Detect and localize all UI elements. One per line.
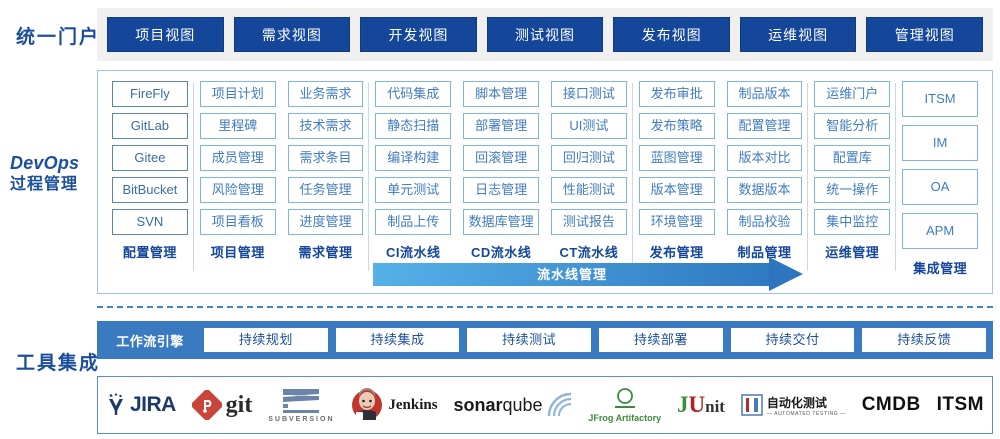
junit-text-j: J xyxy=(677,392,689,417)
portal-button-project[interactable]: 项目视图 xyxy=(107,17,224,52)
portal-button-requirement[interactable]: 需求视图 xyxy=(234,17,351,52)
portal-button-testing[interactable]: 测试视图 xyxy=(487,17,604,52)
tool-logo-panel: JIRA git SUBVERSION Jen xyxy=(97,376,993,434)
cell-release-strategy[interactable]: 发布策略 xyxy=(639,113,715,139)
jira-logo-text: JIRA xyxy=(130,393,176,417)
cell-regression-test[interactable]: 回归测试 xyxy=(551,145,627,171)
sonarqube-logo: sonarqube xyxy=(453,383,572,427)
cell-gitlab[interactable]: GitLab xyxy=(112,113,188,139)
jira-logo: JIRA xyxy=(106,383,176,427)
workflow-stage-testing[interactable]: 持续测试 xyxy=(467,328,591,352)
pipeline-arrow-label: 流水线管理 xyxy=(373,263,771,286)
git-logo: git xyxy=(192,383,253,427)
sonarqube-waves-icon xyxy=(547,392,573,418)
cell-technical-requirement[interactable]: 技术需求 xyxy=(288,113,364,139)
devops-column-operations: 运维门户 智能分析 配置库 统一操作 集中监控 运维管理 xyxy=(808,81,896,277)
subversion-mark-icon xyxy=(281,387,321,415)
cell-project-plan[interactable]: 项目计划 xyxy=(200,81,276,107)
workflow-stage-deployment[interactable]: 持续部署 xyxy=(599,328,723,352)
cmdb-logo-text: CMDB xyxy=(862,394,921,416)
jfrog-artifactory-logo: JFrog Artifactory xyxy=(588,383,661,427)
cell-compile-build[interactable]: 编译构建 xyxy=(375,145,451,171)
cell-test-report[interactable]: 测试报告 xyxy=(551,209,627,235)
sonarqube-text-light: qube xyxy=(503,395,543,415)
devops-column-ci: 代码集成 静态扫描 编译构建 单元测试 制品上传 CI流水线 xyxy=(369,81,457,277)
cell-business-requirement[interactable]: 业务需求 xyxy=(288,81,364,107)
devops-column-cd: 脚本管理 部署管理 回滚管理 日志管理 数据库管理 CD流水线 xyxy=(457,81,545,277)
cell-intelligent-analysis[interactable]: 智能分析 xyxy=(814,113,890,139)
jenkins-mark-icon xyxy=(350,388,384,422)
row-label-tools: 工具集成 xyxy=(16,352,100,376)
cell-blueprint-management[interactable]: 蓝图管理 xyxy=(639,145,715,171)
devops-column-project: 项目计划 里程碑 成员管理 风险管理 项目看板 项目管理 xyxy=(194,81,282,277)
cell-version-management[interactable]: 版本管理 xyxy=(639,177,715,203)
portal-button-release[interactable]: 发布视图 xyxy=(613,17,730,52)
workflow-stage-delivery[interactable]: 持续交付 xyxy=(731,328,855,352)
cell-apm[interactable]: APM xyxy=(902,213,978,249)
jira-mark-icon xyxy=(106,393,126,417)
section-divider xyxy=(97,306,993,308)
cell-release-approval[interactable]: 发布审批 xyxy=(639,81,715,107)
cell-itsm[interactable]: ITSM xyxy=(902,81,978,117)
jfrog-logo-text: JFrog Artifactory xyxy=(588,413,661,423)
cell-rollback-management[interactable]: 回滚管理 xyxy=(463,145,539,171)
subversion-logo: SUBVERSION xyxy=(268,383,334,427)
automated-testing-text-en: — AUTOMATED TESTING — xyxy=(767,411,846,417)
column-title-operations: 运维管理 xyxy=(814,242,890,261)
git-logo-text: git xyxy=(226,392,253,419)
cell-ui-test[interactable]: UI测试 xyxy=(551,113,627,139)
cell-config-repository[interactable]: 配置库 xyxy=(814,145,890,171)
pipeline-arrow: 流水线管理 xyxy=(373,263,823,286)
column-title-scm: 配置管理 xyxy=(112,242,188,261)
cell-unified-operation[interactable]: 统一操作 xyxy=(814,177,890,203)
cell-im[interactable]: IM xyxy=(902,125,978,161)
workflow-engine-bar: 工作流引擎 持续规划 持续集成 持续测试 持续部署 持续交付 持续反馈 xyxy=(97,321,993,359)
jenkins-logo: Jenkins xyxy=(350,383,437,427)
cell-artifact-version[interactable]: 制品版本 xyxy=(727,81,803,107)
cell-static-scan[interactable]: 静态扫描 xyxy=(375,113,451,139)
cell-risk-management[interactable]: 风险管理 xyxy=(200,177,276,203)
cell-oa[interactable]: OA xyxy=(902,169,978,205)
cell-script-management[interactable]: 脚本管理 xyxy=(463,81,539,107)
itsm-logo-text: ITSM xyxy=(937,394,984,416)
devops-column-scm: FireFly GitLab Gitee BitBucket SVN 配置管理 xyxy=(106,81,194,277)
cell-artifact-verify[interactable]: 制品校验 xyxy=(727,209,803,235)
cell-config-management[interactable]: 配置管理 xyxy=(727,113,803,139)
junit-text-nit: nit xyxy=(705,397,725,416)
junit-text-u: U xyxy=(688,392,705,417)
column-title-release: 发布管理 xyxy=(639,242,715,261)
cell-progress-management[interactable]: 进度管理 xyxy=(288,209,364,235)
automated-testing-mark-icon xyxy=(741,394,763,416)
cell-code-integration[interactable]: 代码集成 xyxy=(375,81,451,107)
cell-project-board[interactable]: 项目看板 xyxy=(200,209,276,235)
devops-column-requirement: 业务需求 技术需求 需求条目 任务管理 进度管理 需求管理 xyxy=(282,81,370,277)
cell-requirement-item[interactable]: 需求条目 xyxy=(288,145,364,171)
column-title-ci: CI流水线 xyxy=(375,242,451,261)
column-title-integration: 集成管理 xyxy=(902,258,978,277)
cell-interface-test[interactable]: 接口测试 xyxy=(551,81,627,107)
portal-button-management[interactable]: 管理视图 xyxy=(866,17,983,52)
cell-bitbucket[interactable]: BitBucket xyxy=(112,177,188,203)
cell-environment-management[interactable]: 环境管理 xyxy=(639,209,715,235)
devops-process-panel: FireFly GitLab Gitee BitBucket SVN 配置管理 … xyxy=(97,70,993,294)
pipeline-arrow-head-icon xyxy=(769,257,803,291)
sonarqube-text-bold: sonar xyxy=(453,395,502,415)
portal-button-development[interactable]: 开发视图 xyxy=(360,17,477,52)
git-mark-icon xyxy=(192,390,222,420)
cmdb-logo: CMDB xyxy=(862,383,921,427)
workflow-engine-label: 工作流引擎 xyxy=(104,331,196,350)
automated-testing-logo-text: 自动化测试 — AUTOMATED TESTING — xyxy=(767,394,846,417)
cell-svn[interactable]: SVN xyxy=(112,209,188,235)
portal-button-operations[interactable]: 运维视图 xyxy=(740,17,857,52)
sonarqube-logo-text: sonarqube xyxy=(453,395,542,416)
cell-member-management[interactable]: 成员管理 xyxy=(200,145,276,171)
cell-deploy-management[interactable]: 部署管理 xyxy=(463,113,539,139)
cell-version-compare[interactable]: 版本对比 xyxy=(727,145,803,171)
cell-log-management[interactable]: 日志管理 xyxy=(463,177,539,203)
cell-central-monitoring[interactable]: 集中监控 xyxy=(814,209,890,235)
automated-testing-logo: 自动化测试 — AUTOMATED TESTING — xyxy=(741,383,846,427)
jenkins-logo-text: Jenkins xyxy=(388,397,437,414)
cell-ops-portal[interactable]: 运维门户 xyxy=(814,81,890,107)
workflow-stage-planning[interactable]: 持续规划 xyxy=(204,328,328,352)
column-title-requirement: 需求管理 xyxy=(288,242,364,261)
row-label-portal: 统一门户 xyxy=(16,26,100,50)
devops-label-cn: 过程管理 xyxy=(10,175,79,195)
devops-label-en: DevOps xyxy=(10,152,79,175)
cell-task-management[interactable]: 任务管理 xyxy=(288,177,364,203)
itsm-logo: ITSM xyxy=(937,383,984,427)
devops-column-integration: ITSM IM OA APM 集成管理 xyxy=(896,81,984,277)
workflow-stage-feedback[interactable]: 持续反馈 xyxy=(862,328,986,352)
cell-artifact-upload[interactable]: 制品上传 xyxy=(375,209,451,235)
devops-column-group: FireFly GitLab Gitee BitBucket SVN 配置管理 … xyxy=(98,71,992,277)
portal-view-bar: 项目视图 需求视图 开发视图 测试视图 发布视图 运维视图 管理视图 xyxy=(97,8,993,61)
devops-column-release: 发布审批 发布策略 蓝图管理 版本管理 环境管理 发布管理 xyxy=(633,81,721,277)
junit-logo-text: JUnit xyxy=(677,392,725,418)
cell-firefly[interactable]: FireFly xyxy=(112,81,188,107)
automated-testing-text-cn: 自动化测试 xyxy=(767,396,827,410)
column-title-project: 项目管理 xyxy=(200,242,276,261)
cell-unit-test[interactable]: 单元测试 xyxy=(375,177,451,203)
cell-performance-test[interactable]: 性能测试 xyxy=(551,177,627,203)
column-title-ct: CT流水线 xyxy=(551,242,627,261)
cell-database-management[interactable]: 数据库管理 xyxy=(463,209,539,235)
jfrog-mark-icon xyxy=(612,387,638,411)
cell-gitee[interactable]: Gitee xyxy=(112,145,188,171)
devops-column-ct: 接口测试 UI测试 回归测试 性能测试 测试报告 CT流水线 xyxy=(545,81,633,277)
subversion-logo-text: SUBVERSION xyxy=(268,416,334,423)
junit-logo: JUnit xyxy=(677,383,725,427)
cell-data-version[interactable]: 数据版本 xyxy=(727,177,803,203)
row-label-devops: DevOps 过程管理 xyxy=(10,152,79,195)
column-title-cd: CD流水线 xyxy=(463,242,539,261)
workflow-stage-integration[interactable]: 持续集成 xyxy=(336,328,460,352)
cell-milestone[interactable]: 里程碑 xyxy=(200,113,276,139)
devops-column-artifact: 制品版本 配置管理 版本对比 数据版本 制品校验 制品管理 xyxy=(721,81,809,277)
